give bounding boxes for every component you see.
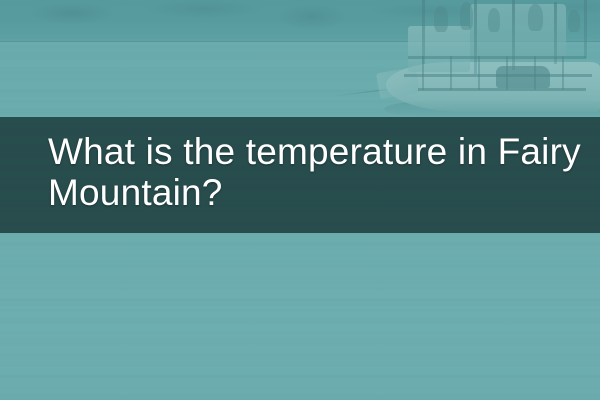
boat-rail-post [450, 56, 452, 90]
boat-mast [512, 0, 515, 70]
caption-question-text: What is the temperature in Fairy Mountai… [48, 131, 582, 213]
boat-rail-post [534, 56, 536, 90]
boat-figure [488, 8, 500, 32]
boat-mast [474, 0, 477, 74]
boat-rail-post [478, 56, 480, 90]
boat-rail-post [506, 56, 508, 90]
boat-figure [434, 6, 448, 32]
boat-rail-post [562, 56, 564, 90]
boat-figure [528, 4, 543, 31]
screenshot-canvas: What is the temperature in Fairy Mountai… [0, 0, 600, 400]
boat-figure [460, 2, 473, 30]
boat-mast [554, 2, 557, 64]
caption-overlay-band: What is the temperature in Fairy Mountai… [0, 117, 600, 233]
boat [378, 0, 600, 122]
boat-railing [408, 56, 586, 59]
boat-mast [584, 0, 587, 58]
boat-railing [418, 88, 586, 91]
boat-rail-post [422, 56, 424, 90]
boat-superstructure [408, 26, 470, 72]
boat-figure [568, 10, 580, 32]
boat-mast [422, 0, 425, 64]
boat-cabin [470, 4, 566, 62]
boat-window [496, 66, 550, 88]
